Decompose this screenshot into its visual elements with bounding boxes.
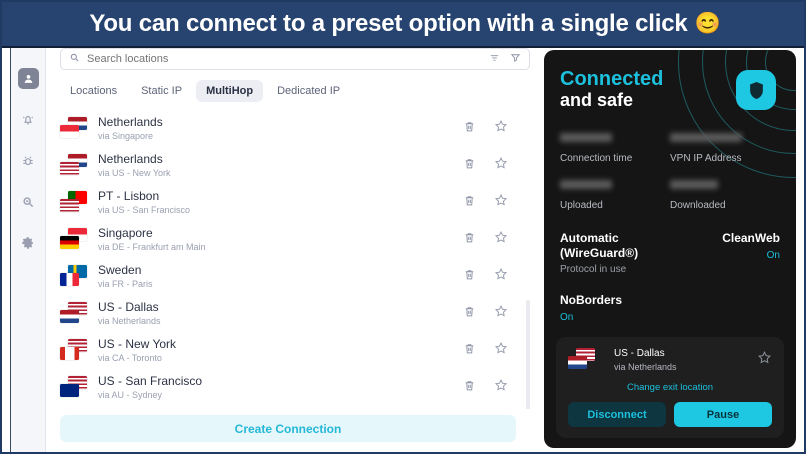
connection-via: via Singapore [98, 130, 463, 142]
connection-flags [60, 190, 90, 216]
connection-title: US - Dallas [98, 300, 463, 314]
connection-actions [463, 378, 516, 397]
stat-value-redacted [560, 133, 612, 142]
connection-via: via CA - Toronto [98, 352, 463, 364]
smiling-face-emoji: 😊 [695, 12, 721, 36]
connection-via: via Netherlands [98, 315, 463, 327]
list-scrollbar[interactable] [526, 300, 530, 409]
flag-de [60, 236, 79, 249]
star-icon[interactable] [494, 193, 508, 212]
connection-row[interactable]: US - Dallasvia Netherlands [60, 295, 520, 332]
protocol-subtitle: Protocol in use [560, 264, 722, 275]
connection-via: via DE - Frankfurt am Main [98, 241, 463, 253]
star-icon[interactable] [494, 267, 508, 286]
status-text: Connected and safe [560, 68, 663, 111]
connection-row[interactable]: Netherlandsvia Singapore [60, 110, 520, 147]
create-connection-area: Create Connection [46, 409, 542, 452]
flag-nl [60, 310, 79, 323]
shield-icon [736, 70, 776, 110]
banner-text: You can connect to a preset option with … [89, 10, 687, 38]
connection-text: Singaporevia DE - Frankfurt am Main [98, 226, 463, 253]
tab-dedicated-ip[interactable]: Dedicated IP [267, 80, 350, 102]
connection-status-panel: Connected and safe Connection timeVPN IP… [544, 50, 796, 448]
connection-flags [60, 153, 90, 179]
connection-list: Netherlandsvia SingaporeNetherlandsvia U… [60, 110, 542, 406]
stat-label: Uploaded [560, 200, 670, 211]
sidebar-item-account[interactable] [18, 68, 39, 89]
stat-connection-time: Connection time [560, 133, 670, 164]
flag-au [60, 384, 79, 397]
status-line-2: and safe [560, 90, 663, 111]
flag-nl [568, 356, 587, 369]
protocol-and-cleanweb: Automatic (WireGuard®) Protocol in use C… [560, 231, 780, 275]
protocol-title-line1: Automatic [560, 231, 722, 246]
connection-title: Netherlands [98, 115, 463, 129]
star-icon[interactable] [494, 378, 508, 397]
noborders-state: On [560, 312, 780, 323]
disconnect-button[interactable]: Disconnect [568, 402, 666, 427]
vpn-app-window: Locations Static IP MultiHop Dedicated I… [10, 46, 800, 452]
connection-flags [60, 264, 90, 290]
flag-sg [60, 125, 79, 138]
change-exit-location-link[interactable]: Change exit location [568, 382, 772, 393]
stat-value-redacted [670, 133, 742, 142]
connection-actions [463, 341, 516, 360]
star-icon[interactable] [757, 350, 772, 370]
connection-text: US - San Franciscovia AU - Sydney [98, 374, 463, 401]
delete-icon[interactable] [463, 231, 476, 249]
stat-uploaded: Uploaded [560, 180, 670, 211]
connection-text: US - New Yorkvia CA - Toronto [98, 337, 463, 364]
stat-downloaded: Downloaded [670, 180, 780, 211]
connection-list-container: Netherlandsvia SingaporeNetherlandsvia U… [46, 110, 542, 409]
connection-row[interactable]: Swedenvia FR - Paris [60, 258, 520, 295]
category-tabs: Locations Static IP MultiHop Dedicated I… [46, 70, 542, 110]
delete-icon[interactable] [463, 379, 476, 397]
gear-icon [21, 236, 35, 250]
connection-actions [463, 193, 516, 212]
flag-us [60, 199, 79, 212]
stat-vpn-ip-address: VPN IP Address [670, 133, 780, 164]
pause-button[interactable]: Pause [674, 402, 772, 427]
star-icon[interactable] [494, 156, 508, 175]
connection-flags [60, 227, 90, 253]
connection-text: US - Dallasvia Netherlands [98, 300, 463, 327]
search-icon [21, 195, 35, 209]
tab-locations[interactable]: Locations [60, 80, 127, 102]
tab-multihop[interactable]: MultiHop [196, 80, 263, 102]
connection-row[interactable]: US - San Franciscovia AU - Sydney [60, 369, 520, 406]
stat-label: Downloaded [670, 200, 780, 211]
connection-actions [463, 230, 516, 249]
connection-flags [60, 116, 90, 142]
star-icon[interactable] [494, 230, 508, 249]
connection-row[interactable]: Singaporevia DE - Frankfurt am Main [60, 221, 520, 258]
promo-banner: You can connect to a preset option with … [2, 2, 806, 48]
star-icon[interactable] [494, 304, 508, 323]
connection-flags [60, 301, 90, 327]
connection-flags [60, 338, 90, 364]
sidebar-item-bug-report[interactable] [18, 150, 39, 171]
search-bar-actions [489, 50, 521, 68]
create-connection-button[interactable]: Create Connection [60, 415, 516, 442]
connection-row[interactable]: Netherlandsvia US - New York [60, 147, 520, 184]
active-connection-via: via Netherlands [614, 361, 757, 373]
connection-actions [463, 304, 516, 323]
stat-value-redacted [560, 180, 612, 189]
connection-via: via US - New York [98, 167, 463, 179]
connection-title: Netherlands [98, 152, 463, 166]
active-connection-row[interactable]: US - Dallas via Netherlands [568, 347, 772, 373]
cleanweb-state: On [722, 250, 780, 261]
delete-icon[interactable] [463, 194, 476, 212]
delete-icon[interactable] [463, 268, 476, 286]
connection-actions [463, 267, 516, 286]
connection-text: Netherlandsvia Singapore [98, 115, 463, 142]
flag-fr [60, 273, 79, 286]
cleanweb-block: CleanWeb On [722, 231, 780, 275]
filter-icon[interactable] [510, 50, 521, 68]
noborders-title: NoBorders [560, 293, 780, 308]
connection-title: PT - Lisbon [98, 189, 463, 203]
active-connection-title: US - Dallas [614, 348, 757, 360]
connection-stats: Connection timeVPN IP AddressUploadedDow… [560, 133, 780, 211]
protocol-title-line2: (WireGuard®) [560, 246, 722, 261]
star-icon[interactable] [494, 341, 508, 360]
connection-via: via US - San Francisco [98, 204, 463, 216]
delete-icon[interactable] [463, 157, 476, 175]
search-bar[interactable] [60, 48, 530, 70]
delete-icon[interactable] [463, 120, 476, 138]
protocol-block: Automatic (WireGuard®) Protocol in use [560, 231, 722, 275]
sidebar-item-settings[interactable] [18, 232, 39, 253]
connection-title: Sweden [98, 263, 463, 277]
bug-icon [21, 154, 35, 168]
connection-actions [463, 156, 516, 175]
sort-icon[interactable] [489, 50, 500, 68]
stat-label: Connection time [560, 153, 670, 164]
connection-buttons: Disconnect Pause [568, 402, 772, 427]
connection-via: via FR - Paris [98, 278, 463, 290]
delete-icon[interactable] [463, 305, 476, 323]
connection-title: Singapore [98, 226, 463, 240]
status-header: Connected and safe [560, 68, 780, 111]
connection-text: PT - Lisbonvia US - San Francisco [98, 189, 463, 216]
sidebar-item-alerts[interactable] [18, 109, 39, 130]
connection-row[interactable]: PT - Lisbonvia US - San Francisco [60, 184, 520, 221]
account-icon [22, 72, 35, 85]
search-icon [69, 50, 80, 68]
connection-actions [463, 119, 516, 138]
stat-value-redacted [670, 180, 718, 189]
search-input[interactable] [87, 53, 489, 65]
noborders-block: NoBorders On [560, 293, 780, 323]
locations-column: Locations Static IP MultiHop Dedicated I… [46, 46, 542, 452]
connection-title: US - San Francisco [98, 374, 463, 388]
alert-icon [21, 113, 35, 127]
flag-us [60, 162, 79, 175]
sidebar-item-search[interactable] [18, 191, 39, 212]
connection-via: via AU - Sydney [98, 389, 463, 401]
active-connection-flags [568, 347, 598, 373]
tab-static-ip[interactable]: Static IP [131, 80, 192, 102]
delete-icon[interactable] [463, 342, 476, 360]
connection-title: US - New York [98, 337, 463, 351]
cleanweb-title: CleanWeb [722, 231, 780, 246]
active-connection-text: US - Dallas via Netherlands [614, 348, 757, 373]
connection-flags [60, 375, 90, 401]
connection-row[interactable]: US - New Yorkvia CA - Toronto [60, 332, 520, 369]
stat-label: VPN IP Address [670, 153, 780, 164]
connection-text: Netherlandsvia US - New York [98, 152, 463, 179]
status-line-1: Connected [560, 68, 663, 90]
app-screenshot: You can connect to a preset option with … [0, 0, 806, 454]
connection-text: Swedenvia FR - Paris [98, 263, 463, 290]
flag-ca [60, 347, 79, 360]
left-sidebar [10, 46, 46, 452]
star-icon[interactable] [494, 119, 508, 138]
active-connection-card: US - Dallas via Netherlands Change exit … [556, 337, 784, 438]
